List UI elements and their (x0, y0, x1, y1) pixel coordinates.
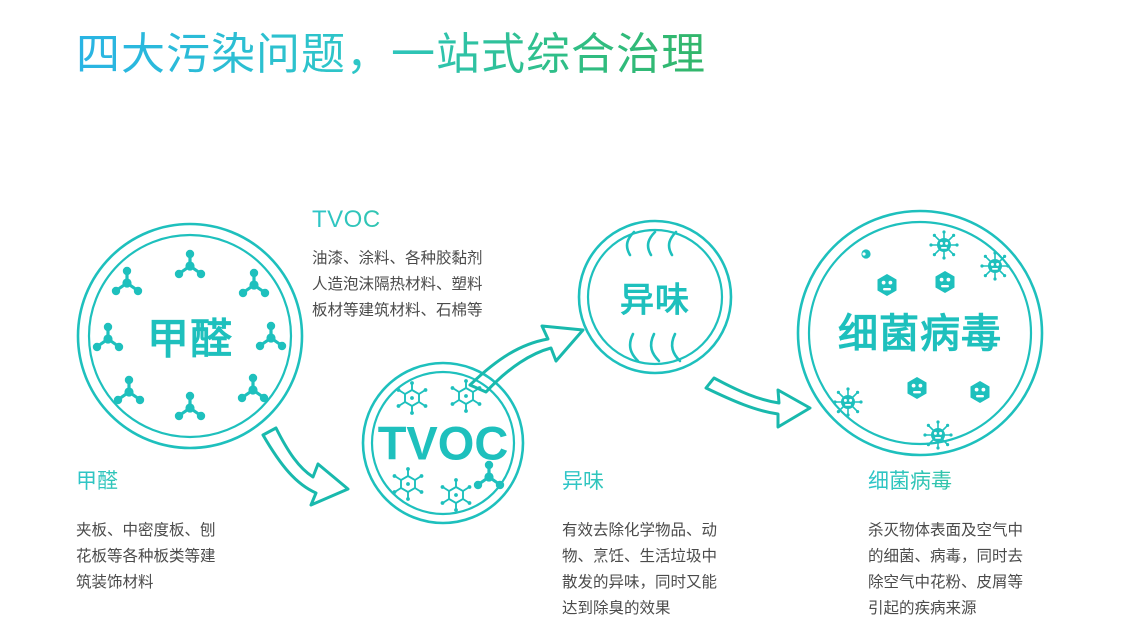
arrow-formaldehyde-tvoc (263, 428, 348, 505)
caption-head-formaldehyde: 甲醛 (76, 468, 216, 496)
circle-label-odor: 异味 (620, 273, 690, 322)
arrow-odor-germs (706, 378, 810, 427)
caption-block-odor: 异味 有效去除化学物品、动 物、烹饪、生活垃圾中 散发的异味，同时又能 达到除臭… (562, 468, 717, 622)
circle-label-formaldehyde: 甲醛 (147, 306, 233, 367)
circle-label-germs: 细菌病毒 (838, 301, 1002, 359)
caption-head-odor: 异味 (562, 468, 717, 496)
caption-block-germs: 细菌病毒 杀灭物体表面及空气中 的细菌、病毒，同时去 除空气中花粉、皮屑等 引起… (868, 468, 1023, 622)
circle-label-tvoc: TVOC (378, 416, 509, 471)
caption-block-tvoc: TVOC 油漆、涂料、各种胶黏剂 人造泡沫隔热材料、塑料 板材等建筑材料、石棉等 (312, 206, 483, 324)
caption-head-germs: 细菌病毒 (868, 468, 1023, 496)
slide-canvas: 四大污染问题，一站式综合治理 (0, 0, 1131, 626)
caption-block-formaldehyde: 甲醛 夹板、中密度板、刨 花板等各种板类等建 筑装饰材料 (76, 468, 216, 596)
caption-body-germs: 杀灭物体表面及空气中 的细菌、病毒，同时去 除空气中花粉、皮屑等 引起的疾病来源 (868, 518, 1023, 622)
caption-body-tvoc: 油漆、涂料、各种胶黏剂 人造泡沫隔热材料、塑料 板材等建筑材料、石棉等 (312, 246, 483, 324)
arrow-tvoc-odor (470, 326, 583, 392)
caption-body-formaldehyde: 夹板、中密度板、刨 花板等各种板类等建 筑装饰材料 (76, 518, 216, 596)
caption-head-tvoc: TVOC (312, 206, 483, 234)
caption-body-odor: 有效去除化学物品、动 物、烹饪、生活垃圾中 散发的异味，同时又能 达到除臭的效果 (562, 518, 717, 622)
